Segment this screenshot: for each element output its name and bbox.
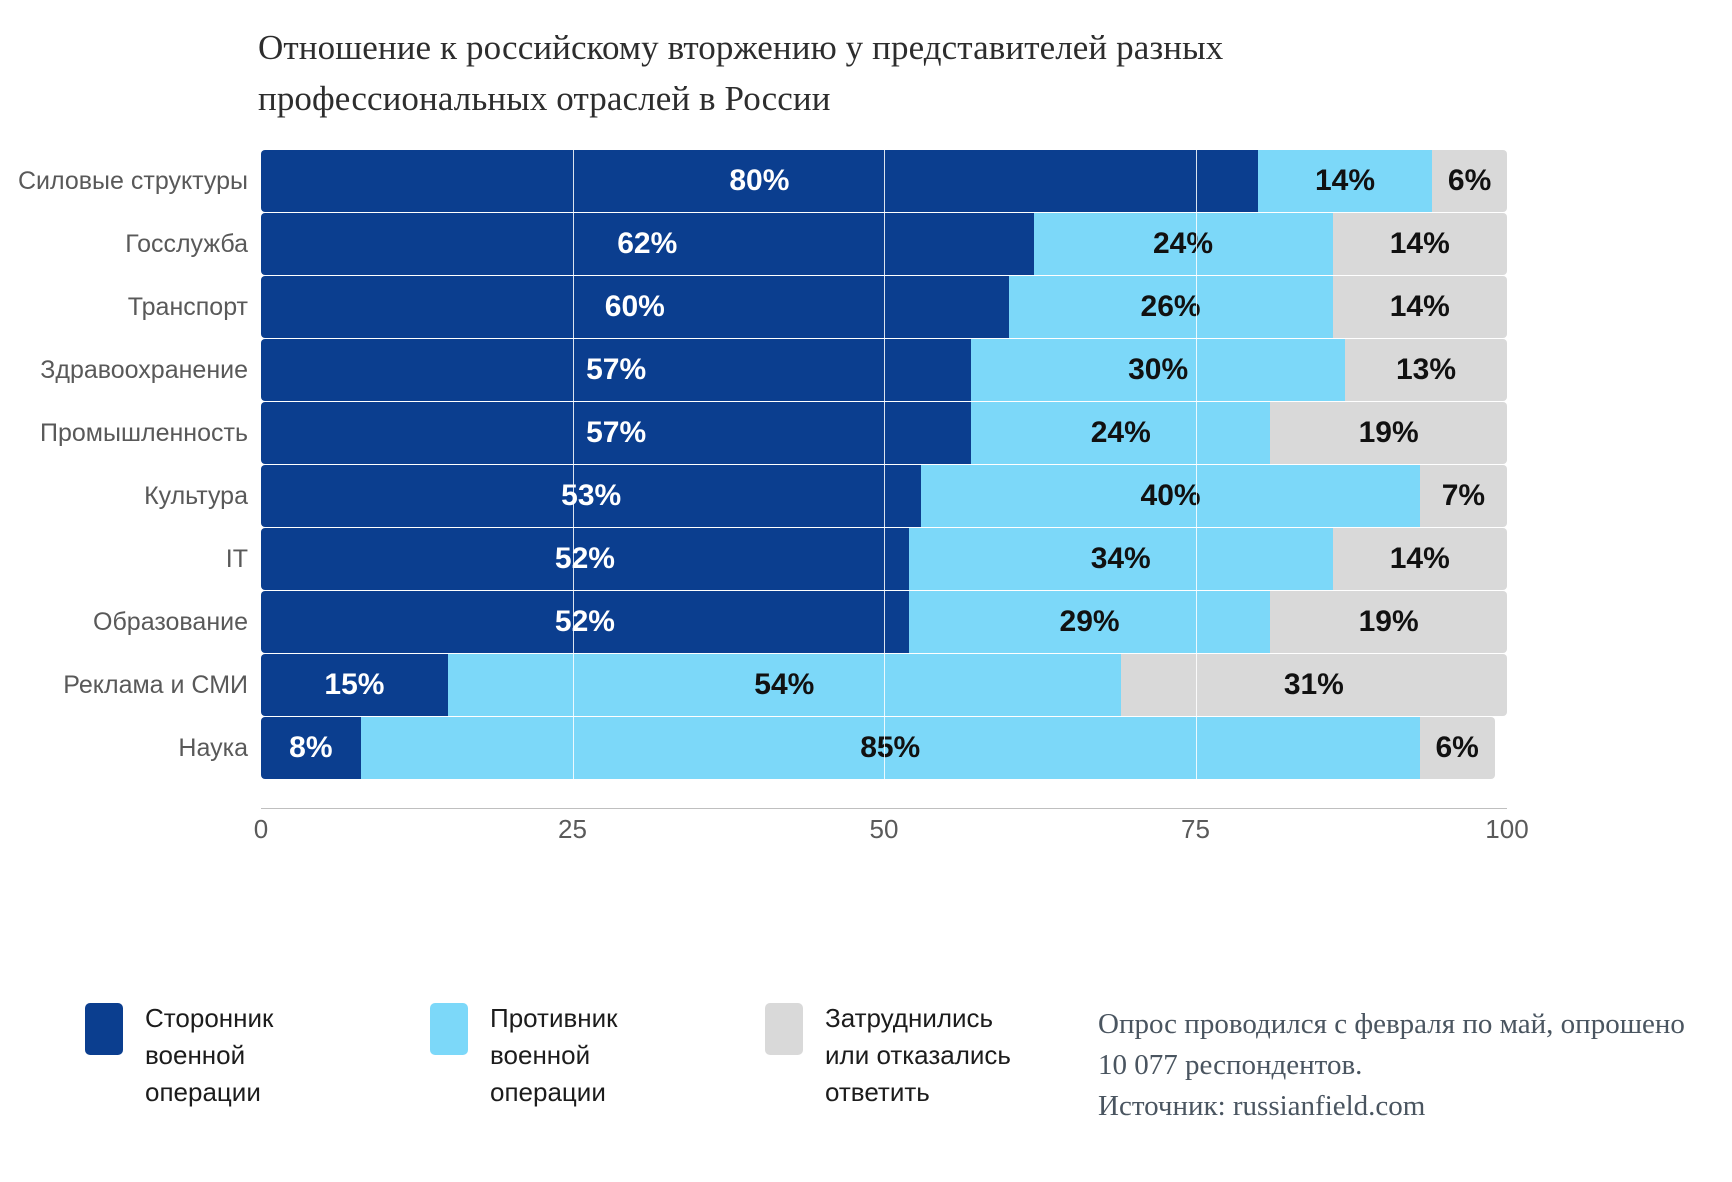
category-label-2: Госслужба [0,213,248,275]
bar-group: 52%34%14% [261,528,1507,590]
bar-value-label: 85% [860,731,920,765]
bar-value-label: 24% [1091,416,1151,450]
bar-segment-series2[interactable]: 24% [971,402,1270,464]
x-tick-label-75: 75 [1181,814,1210,845]
bar-segment-series2[interactable]: 54% [448,654,1121,716]
bar-segment-series3[interactable]: 13% [1345,339,1507,401]
legend-item-undecided[interactable]: Затруднились или отказались ответить [765,1000,1011,1111]
legend-swatch-undecided [765,1003,803,1055]
bar-value-label: 62% [617,227,677,261]
category-label-4: Здравоохранение [0,339,248,401]
chart-row: Наука8%85%6% [0,717,1732,779]
bar-segment-series3[interactable]: 31% [1121,654,1507,716]
page-title: Отношение к российскому вторжению у пред… [258,22,1378,125]
legend-item-supporter[interactable]: Сторонник военной операции [85,1000,273,1111]
chart-row: IT52%34%14% [0,528,1732,590]
x-tick-label-100: 100 [1485,814,1528,845]
category-label-8: Образование [0,591,248,653]
chart-row: Культура53%40%7% [0,465,1732,527]
category-label-5: Промышленность [0,402,248,464]
bar-segment-series3[interactable]: 14% [1333,276,1507,338]
chart-row: Транспорт60%26%14% [0,276,1732,338]
bar-value-label: 7% [1442,479,1485,513]
bar-segment-series1[interactable]: 80% [261,150,1258,212]
chart-row: Госслужба62%24%14% [0,213,1732,275]
bar-value-label: 30% [1128,353,1188,387]
bar-value-label: 52% [555,605,615,639]
bar-segment-series3[interactable]: 7% [1420,465,1507,527]
bar-group: 57%30%13% [261,339,1507,401]
bar-segment-series2[interactable]: 26% [1009,276,1333,338]
legend-label-undecided: Затруднились или отказались ответить [825,1000,1011,1111]
bar-value-label: 52% [555,542,615,576]
source-note: Опрос проводился с февраля по май, опрош… [1098,1004,1718,1128]
bar-segment-series2[interactable]: 24% [1034,213,1333,275]
bar-group: 62%24%14% [261,213,1507,275]
bar-segment-series3[interactable]: 6% [1420,717,1495,779]
bar-segment-series1[interactable]: 8% [261,717,361,779]
bar-value-label: 14% [1315,164,1375,198]
bar-value-label: 53% [561,479,621,513]
bar-segment-series3[interactable]: 14% [1333,213,1507,275]
bar-group: 80%14%6% [261,150,1507,212]
stacked-bar-chart: Силовые структуры80%14%6%Госслужба62%24%… [0,150,1732,810]
bar-value-label: 14% [1390,290,1450,324]
bar-segment-series2[interactable]: 30% [971,339,1345,401]
bar-group: 15%54%31% [261,654,1507,716]
bar-segment-series1[interactable]: 52% [261,591,909,653]
legend-label-supporter: Сторонник военной операции [145,1000,273,1111]
bar-group: 53%40%7% [261,465,1507,527]
bar-value-label: 24% [1153,227,1213,261]
bar-segment-series2[interactable]: 14% [1258,150,1432,212]
legend-item-opponent[interactable]: Противник военной операции [430,1000,618,1111]
bar-group: 52%29%19% [261,591,1507,653]
bar-value-label: 29% [1060,605,1120,639]
bar-value-label: 54% [754,668,814,702]
bar-value-label: 14% [1390,227,1450,261]
x-tick-label-50: 50 [870,814,899,845]
bar-segment-series3[interactable]: 19% [1270,402,1507,464]
bar-segment-series3[interactable]: 19% [1270,591,1507,653]
category-label-1: Силовые структуры [0,150,248,212]
bar-segment-series1[interactable]: 60% [261,276,1009,338]
category-label-10: Наука [0,717,248,779]
category-label-6: Культура [0,465,248,527]
bar-segment-series1[interactable]: 57% [261,339,971,401]
bar-segment-series1[interactable]: 62% [261,213,1034,275]
chart-row: Образование52%29%19% [0,591,1732,653]
bar-value-label: 57% [586,416,646,450]
bar-value-label: 60% [605,290,665,324]
bar-value-label: 19% [1359,416,1419,450]
x-axis-line [261,808,1507,809]
bar-value-label: 8% [289,731,332,765]
bar-segment-series3[interactable]: 6% [1432,150,1507,212]
bar-value-label: 15% [324,668,384,702]
bar-value-label: 19% [1359,605,1419,639]
category-label-9: Реклама и СМИ [0,654,248,716]
chart-row: Реклама и СМИ15%54%31% [0,654,1732,716]
bar-segment-series1[interactable]: 52% [261,528,909,590]
chart-row: Силовые структуры80%14%6% [0,150,1732,212]
bar-value-label: 57% [586,353,646,387]
bar-group: 57%24%19% [261,402,1507,464]
bar-segment-series2[interactable]: 40% [921,465,1419,527]
x-axis: 0255075100 [261,808,1507,854]
legend-swatch-supporter [85,1003,123,1055]
x-tick-label-0: 0 [254,814,268,845]
legend-label-opponent: Противник военной операции [490,1000,618,1111]
bar-segment-series3[interactable]: 14% [1333,528,1507,590]
chart-legend: Сторонник военной операцииПротивник воен… [85,1000,1085,1150]
x-tick-label-25: 25 [558,814,587,845]
bar-value-label: 14% [1390,542,1450,576]
bar-segment-series2[interactable]: 29% [909,591,1270,653]
category-label-3: Транспорт [0,276,248,338]
bar-segment-series1[interactable]: 15% [261,654,448,716]
bar-value-label: 6% [1435,731,1478,765]
legend-swatch-opponent [430,1003,468,1055]
bar-segment-series1[interactable]: 57% [261,402,971,464]
bar-segment-series1[interactable]: 53% [261,465,921,527]
bar-group: 60%26%14% [261,276,1507,338]
bar-group: 8%85%6% [261,717,1507,779]
category-label-7: IT [0,528,248,590]
chart-row: Промышленность57%24%19% [0,402,1732,464]
bar-value-label: 13% [1396,353,1456,387]
bar-value-label: 34% [1091,542,1151,576]
bar-segment-series2[interactable]: 34% [909,528,1333,590]
bar-value-label: 31% [1284,668,1344,702]
bar-value-label: 6% [1448,164,1491,198]
bar-value-label: 26% [1141,290,1201,324]
bar-value-label: 40% [1141,479,1201,513]
bar-value-label: 80% [729,164,789,198]
chart-row: Здравоохранение57%30%13% [0,339,1732,401]
bar-segment-series2[interactable]: 85% [361,717,1420,779]
